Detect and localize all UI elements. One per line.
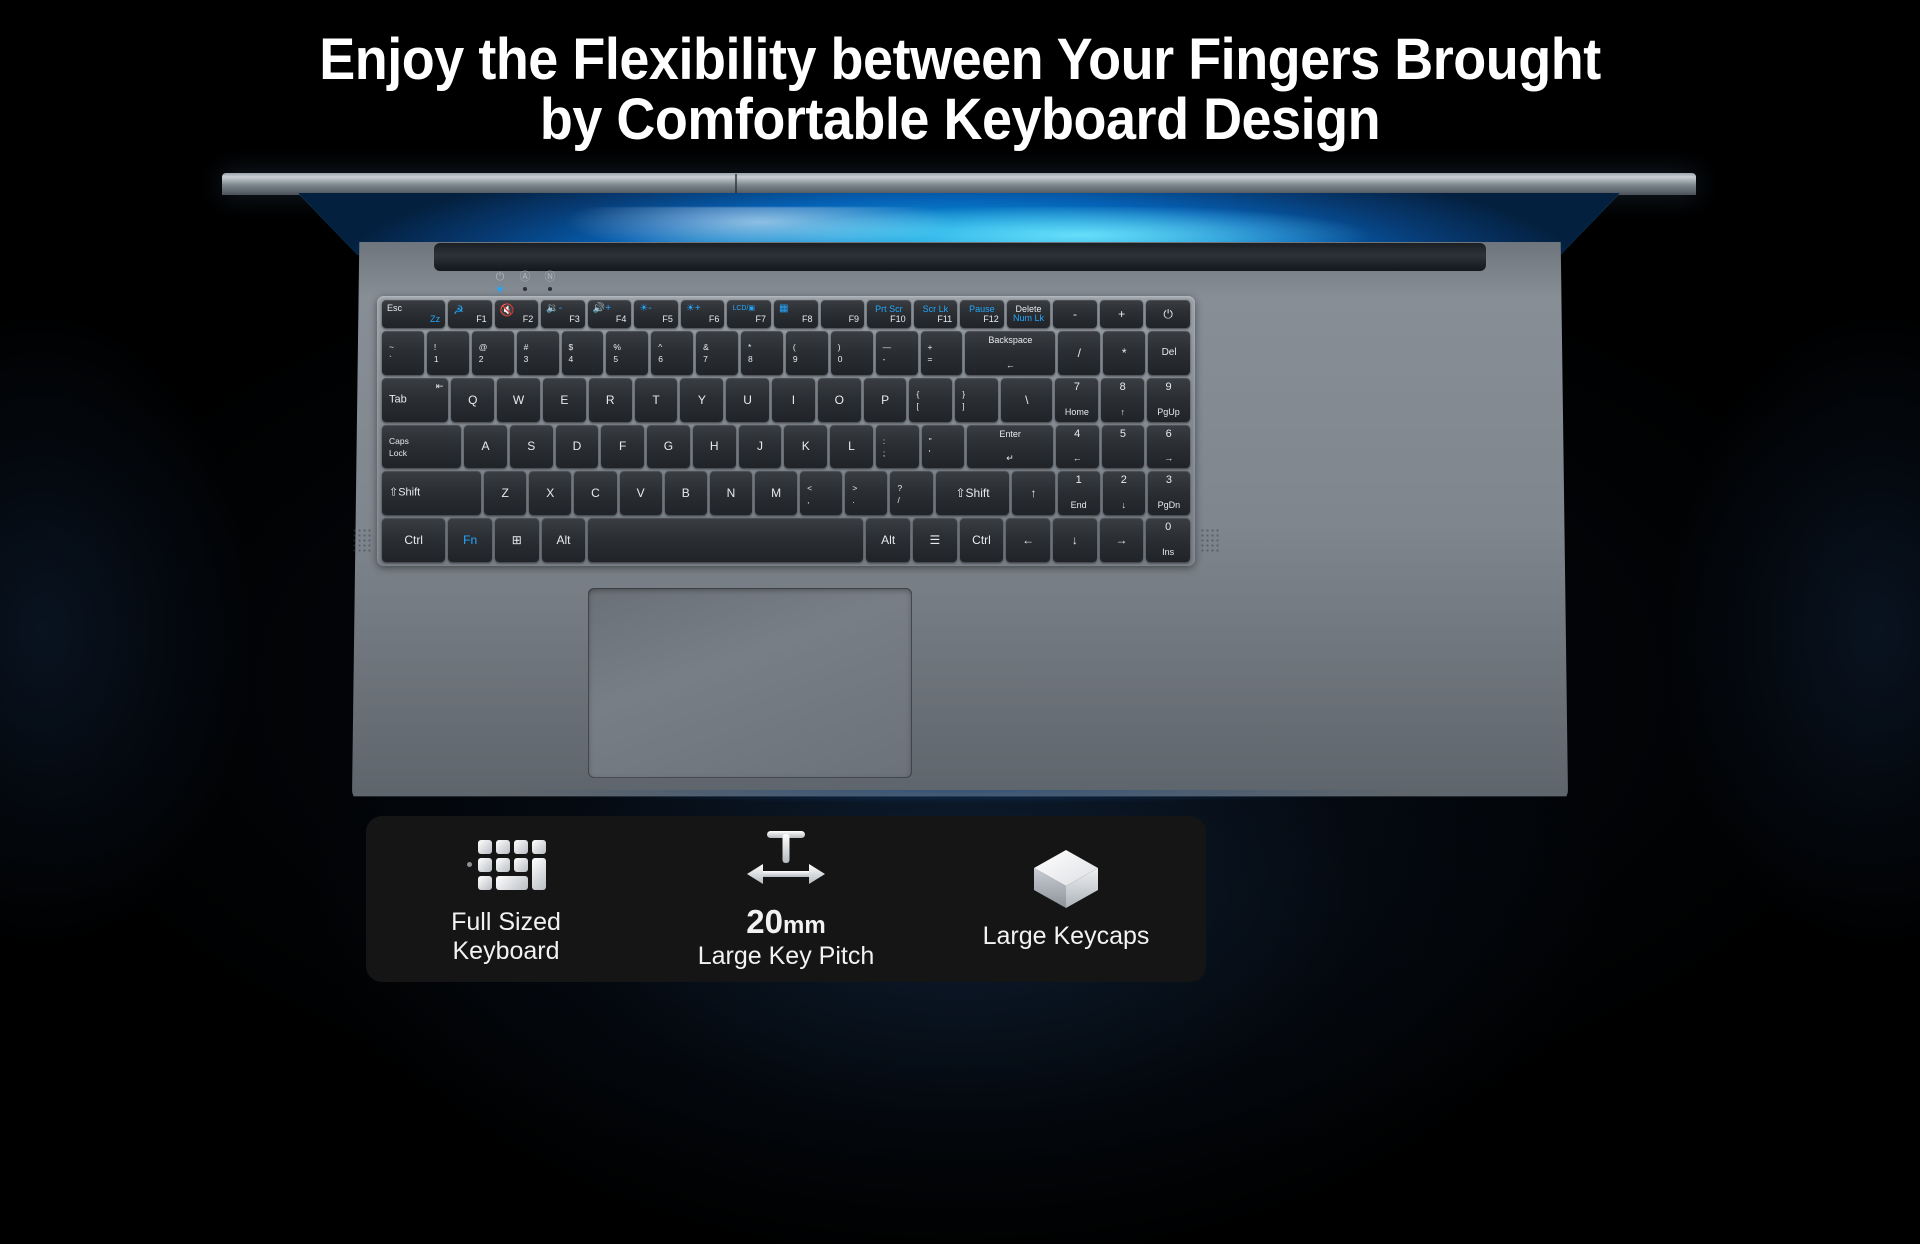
menu-icon: ☰ [913, 518, 957, 562]
key-f11-label: F11 [937, 315, 952, 324]
full-keyboard-icon [366, 832, 646, 898]
key-tab[interactable]: Tab ⇤ [382, 378, 448, 422]
num-lock-led-dot [548, 287, 552, 291]
key-p[interactable]: P [864, 378, 907, 422]
key-f10-function-label: Prt Scr [867, 305, 911, 314]
key-f3[interactable]: 🔉- F3 [541, 300, 585, 328]
arrow-up-icon: ↑ [1101, 408, 1144, 417]
keyboard-modifier-row: Ctrl Fn ⊞ Alt Alt ☰ Ctrl ← ↓ [382, 518, 1190, 562]
key-ctrl-left[interactable]: Ctrl [382, 518, 445, 562]
key-f3-label: F3 [569, 315, 580, 324]
key-shift-right[interactable]: ⇧Shift [936, 471, 1010, 515]
key-alt-left[interactable]: Alt [542, 518, 586, 562]
keyboard-home-row: Caps Lock A S D F G H J K L : ; " ' [382, 425, 1190, 469]
feature-large-keycaps: Large Keycaps [926, 846, 1206, 952]
arrow-up-icon: ↑ [1012, 471, 1054, 515]
laptop-hinge [434, 243, 1486, 271]
key-esc-label: Esc [387, 304, 402, 313]
key-spacebar[interactable] [588, 518, 863, 562]
key-f6[interactable]: ☀+ F6 [681, 300, 725, 328]
brightness-up-icon: ☀+ [686, 304, 701, 314]
key-f6-label: F6 [709, 315, 720, 324]
key-f4[interactable]: 🔊+ F4 [588, 300, 632, 328]
key-f8[interactable]: ▦ F8 [774, 300, 818, 328]
feature-1-line-1: Full Sized [366, 908, 646, 938]
key-f[interactable]: F [601, 425, 644, 469]
key-shift-left[interactable]: ⇧Shift [382, 471, 481, 515]
key-f11-function-label: Scr Lk [914, 305, 958, 314]
key-q[interactable]: Q [451, 378, 494, 422]
key-fn[interactable]: Fn [448, 518, 492, 562]
key-numpad-4[interactable]: 4 ← [1056, 425, 1099, 469]
arrow-right-icon: → [1100, 518, 1144, 562]
key-f5-label: F5 [662, 315, 673, 324]
key-numpad-9[interactable]: 9 PgUp [1147, 378, 1190, 422]
key-m[interactable]: M [755, 471, 797, 515]
key-numpad-plus-top-label: + [1100, 300, 1144, 328]
key-f7[interactable]: LCD/▣ F7 [727, 300, 771, 328]
lid-seam [735, 174, 737, 194]
key-f4-label: F4 [616, 315, 627, 324]
feature-2-line-2: Large Key Pitch [646, 942, 926, 972]
key-enter[interactable]: Enter ↵ [967, 425, 1052, 469]
volume-up-icon: 🔊+ [593, 304, 611, 314]
key-backslash[interactable]: \ [1001, 378, 1052, 422]
key-s[interactable]: S [510, 425, 553, 469]
arrow-left-icon: ← [1056, 454, 1099, 463]
key-f10[interactable]: Prt Scr F10 [867, 300, 911, 328]
feature-2-value: 20mm [646, 903, 926, 942]
arrow-down-icon: ↓ [1053, 518, 1097, 562]
key-z[interactable]: Z [484, 471, 526, 515]
key-h[interactable]: H [693, 425, 736, 469]
key-arrow-left[interactable]: ← [1006, 518, 1050, 562]
key-period[interactable]: > . [845, 471, 887, 515]
keyboard-icon-dot [467, 862, 472, 867]
keycap-3d-icon [926, 846, 1206, 912]
key-f2[interactable]: 🔇 F2 [495, 300, 539, 328]
wifi-icon: ☭ [453, 304, 464, 316]
arrow-down-icon: ↓ [1103, 501, 1145, 510]
key-numpad-multiply[interactable]: * [1103, 331, 1145, 375]
key-semicolon[interactable]: : ; [876, 425, 919, 469]
key-c[interactable]: C [574, 471, 616, 515]
key-2[interactable]: @ 2 [472, 331, 514, 375]
key-f5[interactable]: ☀- F5 [634, 300, 678, 328]
feature-key-pitch: 20mm Large Key Pitch [646, 827, 926, 971]
feature-full-sized-keyboard: Full Sized Keyboard [366, 832, 646, 967]
mute-icon: 🔇 [500, 304, 515, 316]
key-i[interactable]: I [772, 378, 815, 422]
power-icon: ⏻ [1146, 300, 1190, 328]
key-numlock-label: Num Lk [1007, 314, 1051, 323]
key-o[interactable]: O [818, 378, 861, 422]
key-numpad-plus-top[interactable]: + [1100, 300, 1144, 328]
caps-lock-icon: Ⓐ [517, 272, 533, 283]
key-f1-label: F1 [476, 315, 487, 324]
key-r[interactable]: R [589, 378, 632, 422]
backspace-arrow-icon: ← [965, 361, 1055, 370]
laptop-shadow [352, 790, 1568, 816]
speaker-grille-right [1200, 528, 1220, 554]
key-numpad-minus-top-label: - [1053, 300, 1097, 328]
key-f12-function-label: Pause [960, 305, 1004, 314]
key-f8-label: F8 [802, 315, 813, 324]
key-9[interactable]: ( 9 [786, 331, 828, 375]
key-power-button[interactable]: ⏻ [1146, 300, 1190, 328]
key-y[interactable]: Y [680, 378, 723, 422]
key-v[interactable]: V [620, 471, 662, 515]
key-caps-lock[interactable]: Caps Lock [382, 425, 461, 469]
key-equals[interactable]: + = [921, 331, 963, 375]
key-numpad-3[interactable]: 3 PgDn [1148, 471, 1190, 515]
key-b[interactable]: B [665, 471, 707, 515]
key-f10-label: F10 [890, 315, 906, 324]
key-5[interactable]: % 5 [606, 331, 648, 375]
key-6[interactable]: ^ 6 [651, 331, 693, 375]
key-ctrl-right[interactable]: Ctrl [960, 518, 1004, 562]
key-arrow-down[interactable]: ↓ [1053, 518, 1097, 562]
key-numpad-divide[interactable]: / [1058, 331, 1100, 375]
num-lock-icon: Ⓝ [542, 272, 558, 283]
arrow-left-icon: ← [1006, 518, 1050, 562]
keyboard-bottom-letter-row: ⇧Shift Z X C V B N M < , > . ? [382, 471, 1190, 515]
keyboard[interactable]: Esc Zᴢ ☭ F1 🔇 F2 🔉- F3 🔊+ F4 [377, 296, 1195, 566]
key-f7-label: F7 [755, 315, 766, 324]
enter-arrow-icon: ↵ [967, 454, 1052, 463]
key-numpad-8[interactable]: 8 ↑ [1101, 378, 1144, 422]
key-f12[interactable]: Pause F12 [960, 300, 1004, 328]
key-delete[interactable]: Delete Num Lk [1007, 300, 1051, 328]
key-tab-label: Tab [389, 394, 407, 405]
feature-3-line-2: Large Keycaps [926, 922, 1206, 952]
key-numpad-0[interactable]: 0 Ins [1146, 518, 1190, 562]
key-windows[interactable]: ⊞ [495, 518, 539, 562]
display-switch-icon: LCD/▣ [732, 304, 755, 313]
key-arrow-up[interactable]: ↑ [1012, 471, 1054, 515]
sleep-icon: Zᴢ [430, 315, 440, 324]
key-backtick[interactable]: ~ ` [382, 331, 424, 375]
keyboard-number-row: ~ ` ! 1 @ 2 # 3 $ 4 [382, 331, 1190, 375]
windows-icon: ⊞ [495, 518, 539, 562]
key-f1[interactable]: ☭ F1 [448, 300, 492, 328]
volume-down-icon: 🔉- [546, 304, 562, 314]
arrow-right-icon: → [1147, 454, 1190, 463]
key-k[interactable]: K [784, 425, 827, 469]
key-u[interactable]: U [726, 378, 769, 422]
trackpad[interactable] [588, 588, 912, 778]
key-1[interactable]: ! 1 [427, 331, 469, 375]
key-esc[interactable]: Esc Zᴢ [382, 300, 445, 328]
feature-bar: Full Sized Keyboard 20mm Large Key Pitch [366, 816, 1206, 982]
caps-lock-led: Ⓐ [517, 272, 533, 294]
key-numpad-minus-top[interactable]: - [1053, 300, 1097, 328]
power-led-dot [498, 287, 502, 291]
key-arrow-right[interactable]: → [1100, 518, 1144, 562]
key-3[interactable]: # 3 [517, 331, 559, 375]
key-pitch-icon [646, 827, 926, 893]
power-icon: ⏻ [492, 272, 508, 283]
key-numpad-6[interactable]: 6 → [1147, 425, 1190, 469]
tab-arrows-icon: ⇤ [436, 382, 444, 391]
key-slash[interactable]: ? / [890, 471, 932, 515]
keyboard-qwerty-row: Tab ⇤ Q W E R T Y U I O P { [ } ] [382, 378, 1190, 422]
key-enter-label: Enter [967, 430, 1052, 439]
key-l[interactable]: L [830, 425, 873, 469]
key-8[interactable]: * 8 [741, 331, 783, 375]
key-4[interactable]: $ 4 [562, 331, 604, 375]
key-n[interactable]: N [710, 471, 752, 515]
key-w[interactable]: W [497, 378, 540, 422]
status-indicator-group: ⏻ Ⓐ Ⓝ [492, 272, 562, 294]
key-f12-label: F12 [983, 315, 999, 324]
touchpad-icon: ▦ [779, 304, 788, 314]
shift-arrow-icon: ⇧ [955, 487, 965, 499]
laptop-product-image: ⏻ Ⓐ Ⓝ Esc Zᴢ ☭ F1 [0, 0, 1920, 1244]
key-minus[interactable]: — - [876, 331, 918, 375]
power-led: ⏻ [492, 272, 508, 294]
num-lock-led: Ⓝ [542, 272, 558, 294]
key-bracket-right[interactable]: } ] [955, 378, 998, 422]
key-del[interactable]: Del [1148, 331, 1190, 375]
key-7[interactable]: & 7 [696, 331, 738, 375]
key-x[interactable]: X [529, 471, 571, 515]
key-comma[interactable]: < , [800, 471, 842, 515]
key-j[interactable]: J [739, 425, 782, 469]
feature-1-line-2: Keyboard [366, 937, 646, 967]
key-numpad-5[interactable]: 5 [1102, 425, 1145, 469]
caps-lock-led-dot [523, 287, 527, 291]
key-t[interactable]: T [635, 378, 678, 422]
key-g[interactable]: G [647, 425, 690, 469]
key-numpad-1[interactable]: 1 End [1058, 471, 1100, 515]
key-a[interactable]: A [464, 425, 507, 469]
key-backspace-label: Backspace [965, 336, 1055, 345]
laptop-lid [222, 173, 1696, 195]
key-0[interactable]: ) 0 [831, 331, 873, 375]
key-f2-label: F2 [523, 315, 534, 324]
brightness-down-icon: ☀- [639, 304, 651, 314]
key-alt-right[interactable]: Alt [866, 518, 910, 562]
key-bracket-left[interactable]: { [ [909, 378, 952, 422]
key-backspace[interactable]: Backspace ← [965, 331, 1055, 375]
keyboard-function-row: Esc Zᴢ ☭ F1 🔇 F2 🔉- F3 🔊+ F4 [382, 300, 1190, 328]
speaker-grille-left [352, 528, 372, 554]
key-numpad-7[interactable]: 7 Home [1055, 378, 1098, 422]
key-menu[interactable]: ☰ [913, 518, 957, 562]
key-quote[interactable]: " ' [922, 425, 965, 469]
key-e[interactable]: E [543, 378, 586, 422]
key-numpad-2[interactable]: 2 ↓ [1103, 471, 1145, 515]
key-d[interactable]: D [556, 425, 599, 469]
key-f9-label: F9 [849, 315, 860, 324]
key-f9[interactable]: F9 [821, 300, 865, 328]
shift-arrow-icon: ⇧ [389, 487, 398, 499]
key-f11[interactable]: Scr Lk F11 [914, 300, 958, 328]
